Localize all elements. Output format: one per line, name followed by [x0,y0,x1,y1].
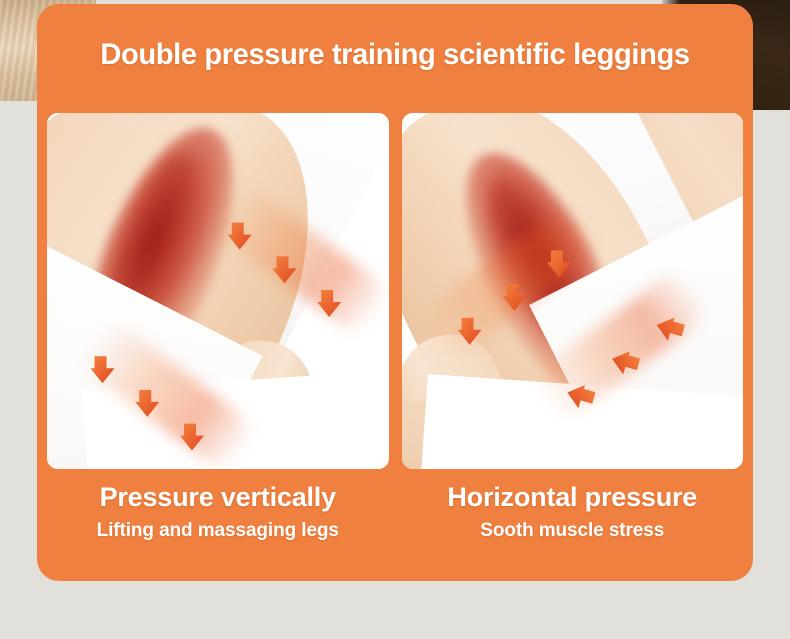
leg-photo-horizontal [402,113,744,469]
panel-pressure-vertically[interactable] [47,113,389,469]
page-title: Double pressure training scientific legg… [48,38,743,72]
comparison-panel-row [47,113,743,469]
caption-subline: Sooth muscle stress [480,520,664,542]
caption-row: Pressure vertically Lifting and massagin… [47,476,743,572]
panel-horizontal-pressure[interactable] [402,113,744,469]
leg-photo-vertical [47,113,389,469]
caption-subline: Lifting and massaging legs [97,520,339,542]
caption-headline: Horizontal pressure [447,482,697,513]
caption-horizontal-pressure: Horizontal pressure Sooth muscle stress [402,476,744,572]
promo-card: Double pressure training scientific legg… [37,4,753,581]
caption-headline: Pressure vertically [100,482,336,513]
caption-pressure-vertically: Pressure vertically Lifting and massagin… [47,476,389,572]
